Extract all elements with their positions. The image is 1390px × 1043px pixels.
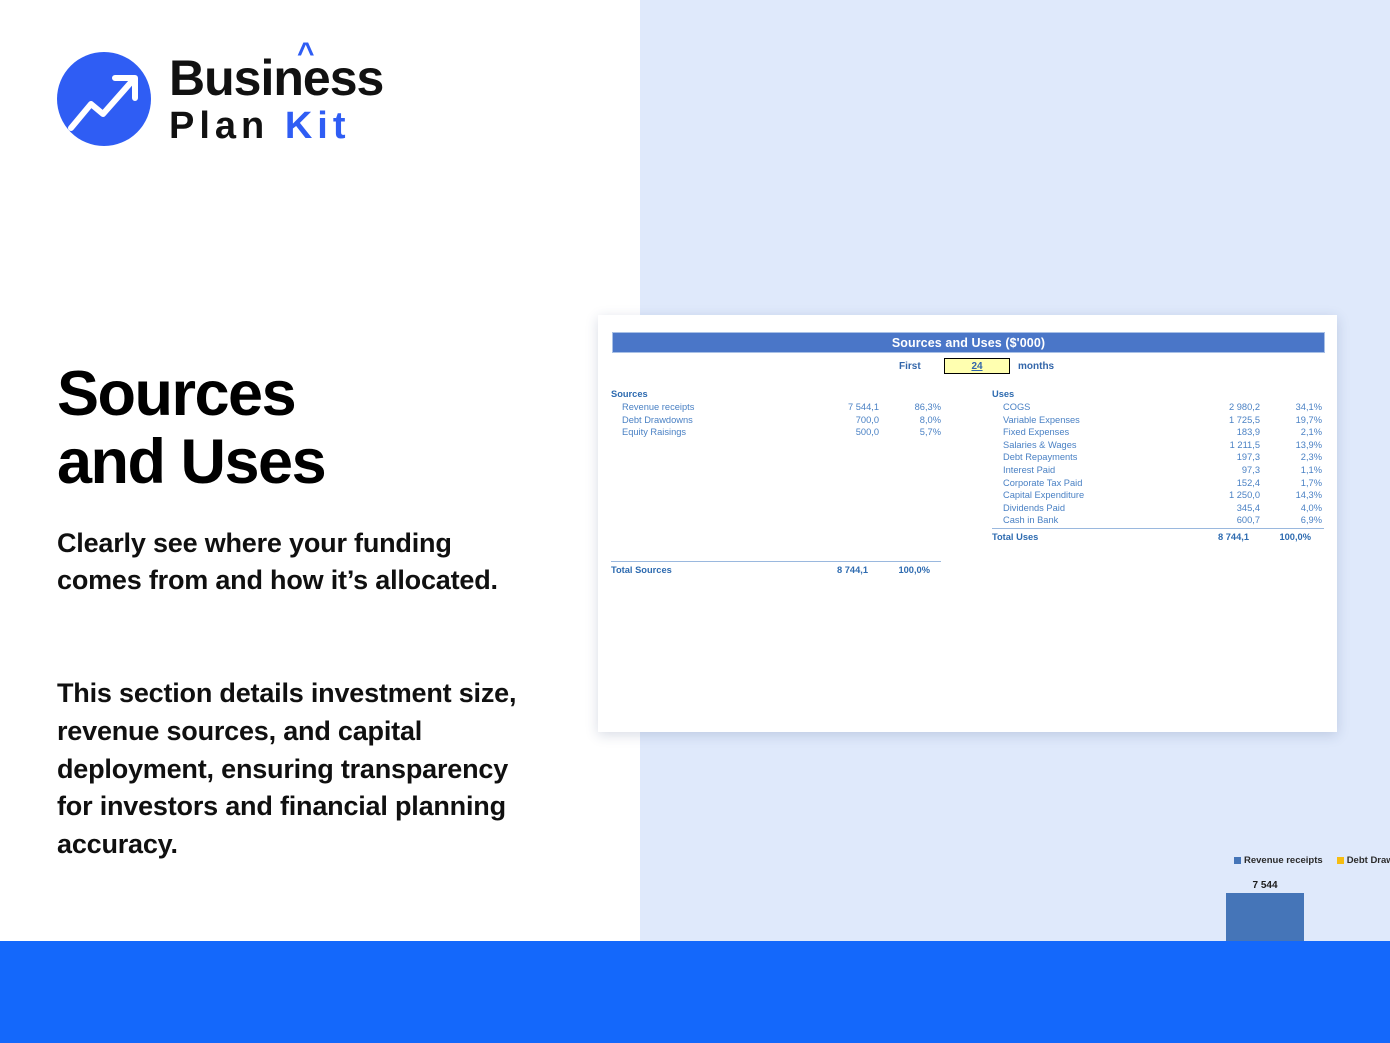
uses-total-label: Total Uses <box>992 530 1177 544</box>
sources-total-pct: 100,0% <box>868 563 930 577</box>
brand-name-line1: Business ^ <box>169 53 383 103</box>
sources-row: Revenue receipts7 544,186,3% <box>611 401 941 414</box>
uses-pct: 2,1% <box>1260 426 1322 439</box>
uses-row: COGS2 980,234,1% <box>992 401 1324 414</box>
uses-label: Salaries & Wages <box>992 439 1188 452</box>
uses-label: Cash in Bank <box>992 514 1188 527</box>
growth-arrow-icon <box>57 52 151 146</box>
sources-legend-label: Revenue receipts <box>1244 855 1323 866</box>
sources-pct: 5,7% <box>879 426 941 439</box>
sources-total-value: 8 744,1 <box>796 563 868 577</box>
uses-row: Salaries & Wages1 211,513,9% <box>992 439 1324 452</box>
sources-total-row: Total Sources 8 744,1 100,0% <box>611 561 941 577</box>
sources-ledger: Sources Revenue receipts7 544,186,3%Debt… <box>611 389 941 577</box>
period-selector-row: First 24 months <box>612 357 1323 375</box>
sheet-title-bar: Sources and Uses ($'000) <box>612 332 1325 353</box>
uses-value: 1 211,5 <box>1188 439 1260 452</box>
sources-pct: 86,3% <box>879 401 941 414</box>
uses-label: Fixed Expenses <box>992 426 1188 439</box>
sources-row: Equity Raisings500,05,7% <box>611 426 941 439</box>
legend-swatch-icon <box>1234 857 1241 864</box>
page-title: Sourcesand Uses <box>57 360 577 496</box>
uses-label: Capital Expenditure <box>992 489 1188 502</box>
uses-label: Variable Expenses <box>992 414 1188 427</box>
sources-chart-legend: Revenue receiptsDebt DrawdownsEquity Rai… <box>1234 855 1390 866</box>
uses-value: 1 250,0 <box>1188 489 1260 502</box>
uses-pct: 4,0% <box>1260 502 1322 515</box>
months-input-value: 24 <box>971 361 982 372</box>
sources-total-label: Total Sources <box>611 563 796 577</box>
uses-pct: 19,7% <box>1260 414 1322 427</box>
sources-rows: Revenue receipts7 544,186,3%Debt Drawdow… <box>611 401 941 439</box>
sources-row: Debt Drawdowns700,08,0% <box>611 414 941 427</box>
uses-pct: 13,9% <box>1260 439 1322 452</box>
sources-legend-item[interactable]: Revenue receipts <box>1234 855 1323 866</box>
uses-label: COGS <box>992 401 1188 414</box>
footer-bar <box>0 941 1390 1043</box>
uses-label: Debt Repayments <box>992 451 1188 464</box>
period-prefix-label: First <box>899 361 921 372</box>
uses-row: Capital Expenditure1 250,014,3% <box>992 489 1324 502</box>
legend-swatch-icon <box>1337 857 1344 864</box>
uses-pct: 1,7% <box>1260 477 1322 490</box>
sources-legend-item[interactable]: Debt Drawdowns <box>1337 855 1390 866</box>
uses-label: Corporate Tax Paid <box>992 477 1188 490</box>
sources-legend-label: Debt Drawdowns <box>1347 855 1390 866</box>
uses-row: Fixed Expenses183,92,1% <box>992 426 1324 439</box>
uses-row: Interest Paid97,31,1% <box>992 464 1324 477</box>
uses-label: Interest Paid <box>992 464 1188 477</box>
lede-paragraph: Clearly see where your funding comes fro… <box>57 525 527 600</box>
uses-rows: COGS2 980,234,1%Variable Expenses1 725,5… <box>992 401 1324 527</box>
uses-value: 2 980,2 <box>1188 401 1260 414</box>
sources-label: Debt Drawdowns <box>611 414 807 427</box>
uses-pct: 1,1% <box>1260 464 1322 477</box>
period-suffix-label: months <box>1018 361 1054 372</box>
uses-row: Dividends Paid345,44,0% <box>992 502 1324 515</box>
circumflex-accent-icon: ^ <box>297 39 314 69</box>
uses-pct: 2,3% <box>1260 451 1322 464</box>
uses-value: 345,4 <box>1188 502 1260 515</box>
page-title-line-1: and Uses <box>57 428 577 496</box>
uses-row: Cash in Bank600,76,9% <box>992 514 1324 527</box>
uses-pct: 34,1% <box>1260 401 1322 414</box>
uses-pct: 6,9% <box>1260 514 1322 527</box>
uses-total-value: 8 744,1 <box>1177 530 1249 544</box>
brand-name-text: Business <box>169 50 383 106</box>
uses-value: 152,4 <box>1188 477 1260 490</box>
uses-row: Variable Expenses1 725,519,7% <box>992 414 1324 427</box>
sources-label: Equity Raisings <box>611 426 807 439</box>
page-title-line-0: Sources <box>57 360 577 428</box>
brand-name-line2: Plan Kit <box>169 107 383 145</box>
sources-label: Revenue receipts <box>611 401 807 414</box>
sources-value: 7 544,1 <box>807 401 879 414</box>
uses-value: 183,9 <box>1188 426 1260 439</box>
uses-total-row: Total Uses 8 744,1 100,0% <box>992 528 1324 544</box>
uses-row: Debt Repayments197,32,3% <box>992 451 1324 464</box>
bar-value-label: 7 544 <box>1226 880 1304 891</box>
uses-pct: 14,3% <box>1260 489 1322 502</box>
uses-value: 1 725,5 <box>1188 414 1260 427</box>
spreadsheet-card: Sources and Uses ($'000) First 24 months… <box>598 315 1337 732</box>
brand-logo: Business ^ Plan Kit <box>57 52 383 146</box>
brand-plan-text: Plan <box>169 105 269 147</box>
sources-heading: Sources <box>611 389 941 399</box>
sources-value: 700,0 <box>807 414 879 427</box>
sources-pct: 8,0% <box>879 414 941 427</box>
uses-value: 197,3 <box>1188 451 1260 464</box>
uses-heading: Uses <box>992 389 1324 399</box>
months-input[interactable]: 24 <box>944 358 1010 374</box>
brand-kit-text: Kit <box>285 105 351 147</box>
uses-value: 600,7 <box>1188 514 1260 527</box>
uses-total-pct: 100,0% <box>1249 530 1311 544</box>
uses-row: Corporate Tax Paid152,41,7% <box>992 477 1324 490</box>
uses-value: 97,3 <box>1188 464 1260 477</box>
body-paragraph: This section details investment size, re… <box>57 675 527 864</box>
sheet-title: Sources and Uses ($'000) <box>892 336 1045 350</box>
uses-ledger: Uses COGS2 980,234,1%Variable Expenses1 … <box>992 389 1324 544</box>
uses-label: Dividends Paid <box>992 502 1188 515</box>
sources-value: 500,0 <box>807 426 879 439</box>
